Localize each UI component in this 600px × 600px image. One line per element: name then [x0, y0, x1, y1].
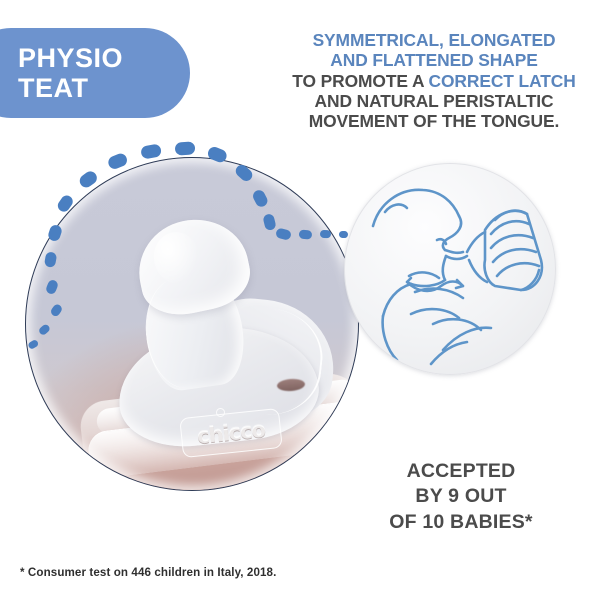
headline-line-3-prefix: TO PROMOTE A — [292, 71, 428, 91]
footnote-text: * Consumer test on 446 children in Italy… — [20, 566, 276, 579]
product-photo: chicco — [26, 158, 358, 490]
headline-block: SYMMETRICAL, ELONGATED AND FLATTENED SHA… — [274, 30, 594, 132]
headline-line-3: TO PROMOTE A CORRECT LATCH — [274, 71, 594, 91]
chicco-logo-text: chicco — [196, 418, 266, 449]
accepted-claim-block: ACCEPTED BY 9 OUT OF 10 BABIES* — [346, 459, 576, 535]
accepted-line-2: BY 9 OUT — [346, 484, 576, 509]
accepted-line-3: OF 10 BABIES* — [346, 510, 576, 535]
badge-line-2: TEAT — [18, 73, 190, 103]
teat-illustration: chicco — [26, 158, 359, 491]
baby-feeding-illustration-icon — [345, 164, 555, 374]
headline-line-4: AND NATURAL PERISTALTIC — [274, 91, 594, 111]
accepted-line-1: ACCEPTED — [346, 459, 576, 484]
headline-line-3-highlight: CORRECT LATCH — [429, 71, 576, 91]
headline-line-2: AND FLATTENED SHAPE — [274, 50, 594, 70]
badge-line-1: PHYSIO — [18, 43, 190, 73]
headline-line-5: MOVEMENT OF THE TONGUE. — [274, 111, 594, 131]
product-infographic: PHYSIO TEAT SYMMETRICAL, ELONGATED AND F… — [0, 0, 600, 600]
headline-line-1: SYMMETRICAL, ELONGATED — [274, 30, 594, 50]
product-photo-circle: chicco — [25, 157, 359, 491]
physio-teat-badge: PHYSIO TEAT — [0, 28, 190, 118]
baby-feeding-inset-circle — [344, 163, 556, 375]
